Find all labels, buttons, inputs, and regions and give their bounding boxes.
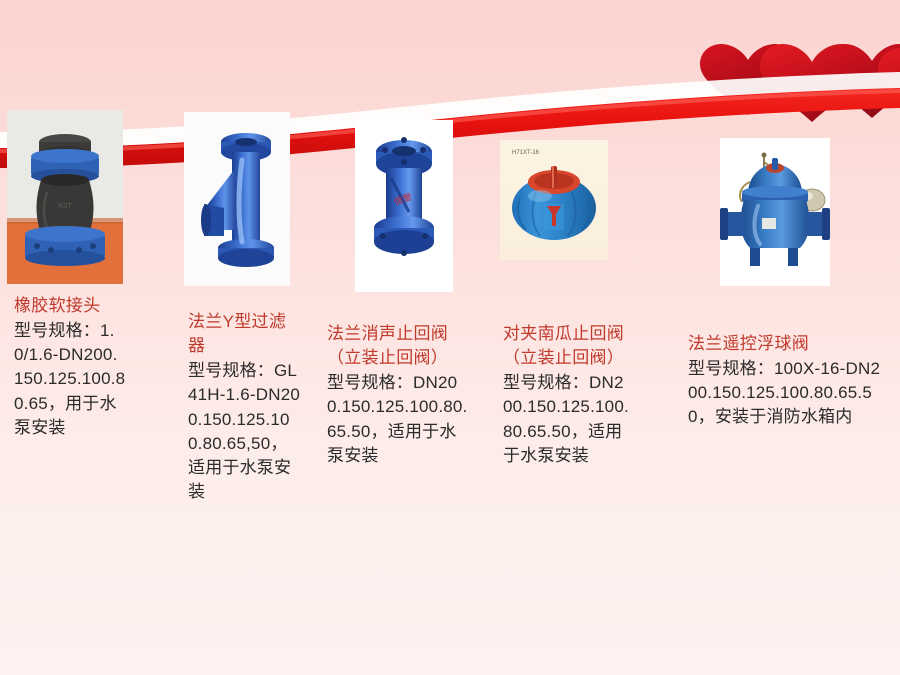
product-column-rubber-flexible-joint: 橡胶软接头 型号规格：1.0/1.6-DN200.150.125.100.80.… bbox=[14, 294, 126, 440]
image-caption-code: H71XT-16 bbox=[512, 150, 540, 156]
slide-canvas: KST bbox=[0, 0, 900, 675]
wafer-pumpkin-check-valve-photo: H71XT-16 bbox=[500, 140, 608, 260]
flange-silent-check-valve-photo: 信誉 bbox=[355, 120, 453, 292]
product-column-flange-y-strainer: 法兰Y型过滤器 型号规格：GL41H-1.6-DN200.150.125.100… bbox=[188, 310, 300, 504]
product-title: 法兰遥控浮球阀 bbox=[688, 332, 888, 356]
flange-y-strainer-photo bbox=[184, 112, 290, 286]
product-column-wafer-pumpkin-check-valve: 对夹南瓜止回阀（立装止回阀） 型号规格：DN200.150.125.100.80… bbox=[503, 322, 631, 468]
product-title: 橡胶软接头 bbox=[14, 294, 126, 318]
product-spec: 型号规格：DN200.150.125.100.80.65.50，适用于水泵安装 bbox=[327, 371, 469, 468]
product-spec: 型号规格：GL41H-1.6-DN200.150.125.100.80.65,5… bbox=[188, 359, 300, 504]
product-title: 对夹南瓜止回阀（立装止回阀） bbox=[503, 322, 631, 370]
product-spec: 型号规格：100X-16-DN200.150.125.100.80.65.50，… bbox=[688, 357, 888, 429]
svg-text:KST: KST bbox=[58, 203, 72, 210]
flange-remote-float-ball-valve-photo bbox=[720, 138, 830, 286]
product-column-flange-remote-float-ball-valve: 法兰遥控浮球阀 型号规格：100X-16-DN200.150.125.100.8… bbox=[688, 332, 888, 430]
product-column-flange-silent-check-valve: 法兰消声止回阀（立装止回阀） 型号规格：DN200.150.125.100.80… bbox=[327, 322, 469, 468]
product-spec: 型号规格：1.0/1.6-DN200.150.125.100.80.65，用于水… bbox=[14, 319, 126, 440]
product-title: 法兰Y型过滤器 bbox=[188, 310, 300, 358]
rubber-flexible-joint-photo: KST bbox=[7, 110, 123, 284]
product-spec: 型号规格：DN200.150.125.100.80.65.50，适用于水泵安装 bbox=[503, 371, 631, 468]
product-title: 法兰消声止回阀（立装止回阀） bbox=[327, 322, 469, 370]
